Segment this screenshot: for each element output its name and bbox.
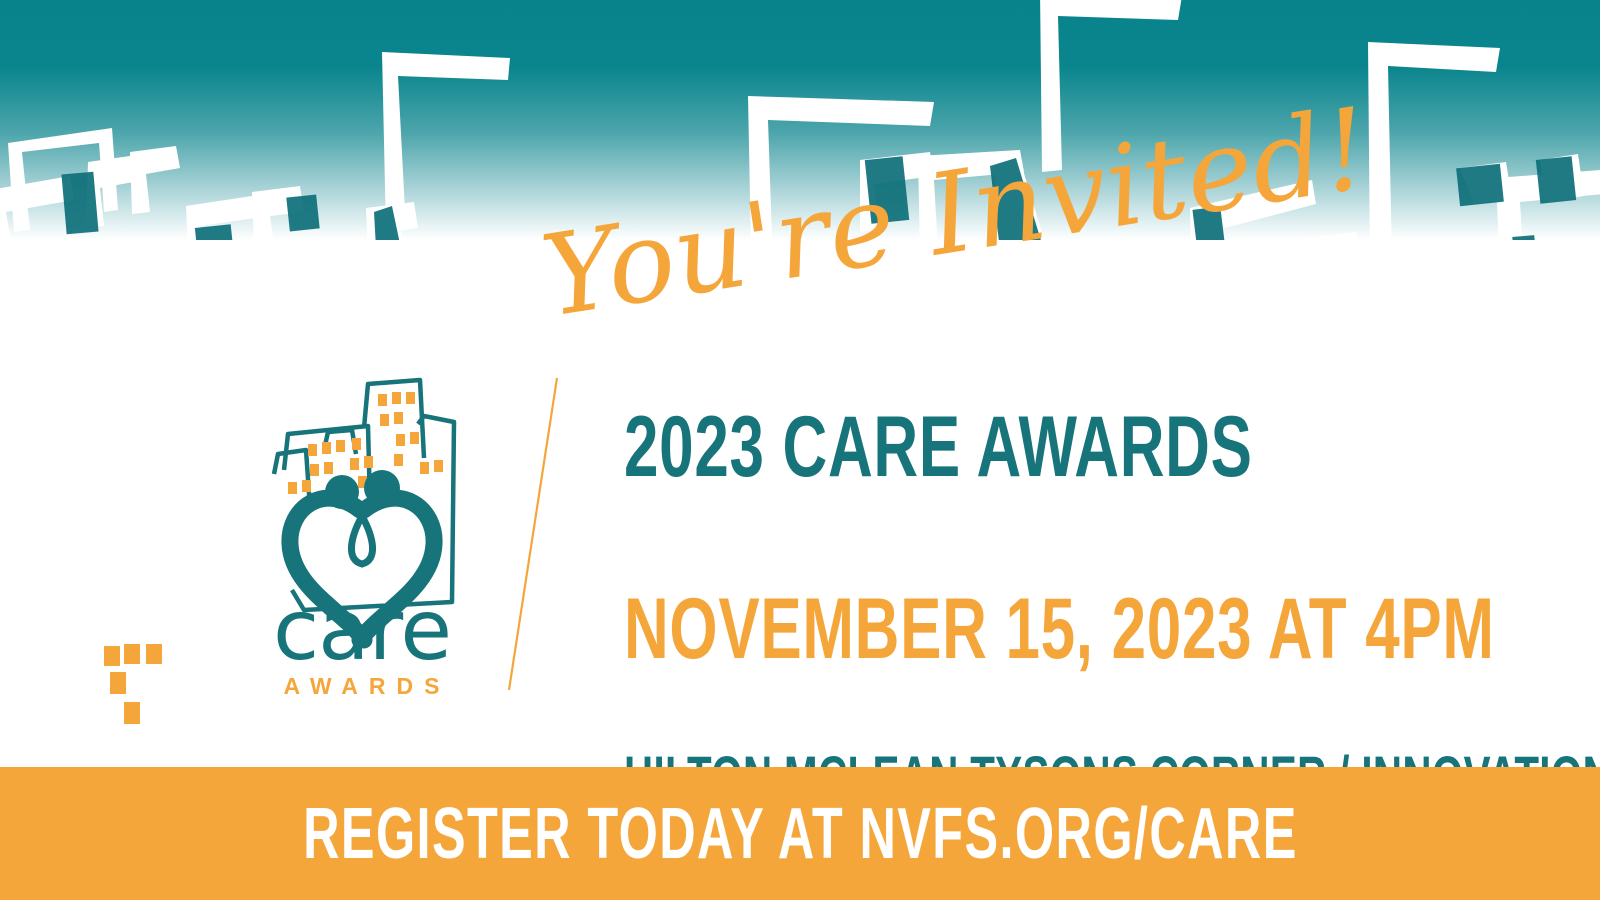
logo-care-text: care: [252, 592, 472, 669]
invited-script-svg: You're Invited!: [540, 196, 1180, 356]
diagonal-divider: [505, 374, 565, 694]
divider-svg: [505, 374, 565, 694]
register-banner[interactable]: REGISTER TODAY AT NVFS.ORG/CARE: [0, 767, 1600, 900]
care-logo-wordmark: care AWARDS: [252, 592, 472, 700]
register-cta-text: REGISTER TODAY AT NVFS.ORG/CARE: [303, 798, 1298, 870]
event-text-block: 2023 CARE AWARDS NOVEMBER 15, 2023 AT 4P…: [624, 404, 1544, 804]
event-title: 2023 CARE AWARDS: [624, 404, 1286, 490]
logo-awards-text: AWARDS: [252, 673, 472, 700]
event-date: NOVEMBER 15, 2023 AT 4PM: [624, 586, 1286, 672]
invited-script-headline: You're Invited!: [540, 196, 1180, 356]
invitation-graphic: You're Invited!: [0, 0, 1600, 900]
logo-center-drop: [351, 516, 372, 564]
logo-figure-head-right: [364, 470, 400, 506]
logo-figure-head-left: [325, 475, 359, 509]
decor-squares-orange: [104, 644, 162, 724]
